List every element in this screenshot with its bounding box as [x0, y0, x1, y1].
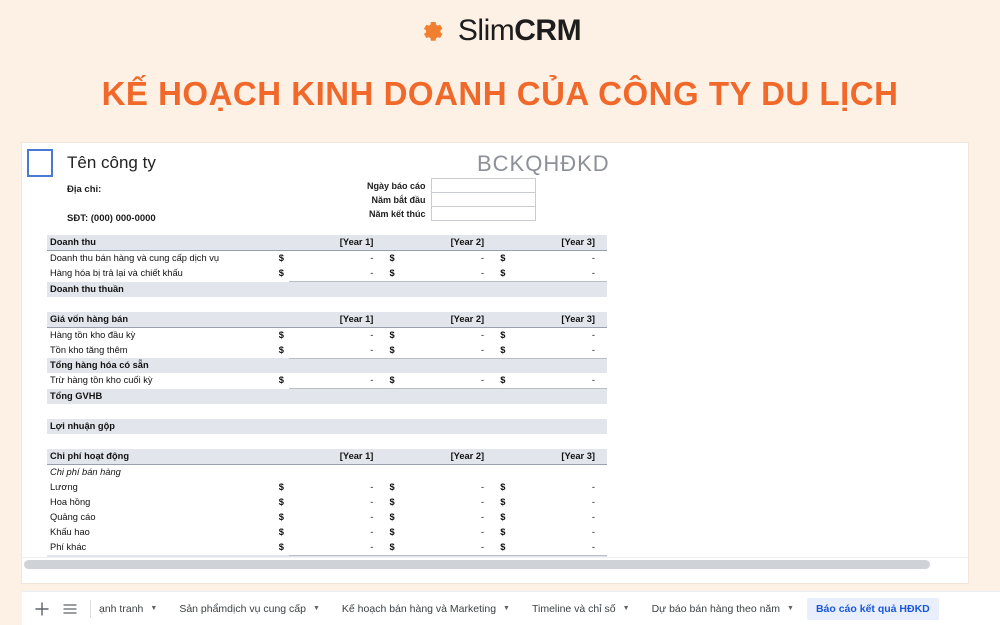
table-row[interactable]: Hàng tồn kho đầu kỳ $ - $ - $ - — [47, 327, 607, 343]
row-label: Quảng cáo — [47, 510, 279, 525]
row-label: Hàng hóa bị trả lại và chiết khấu — [47, 266, 279, 282]
value-year-2[interactable]: - — [400, 540, 497, 556]
value-year-1[interactable]: - — [289, 373, 386, 389]
company-phone[interactable]: SĐT: (000) 000-0000 — [67, 213, 156, 224]
add-sheet-button[interactable] — [28, 595, 56, 623]
row-label: Phí khác — [47, 540, 279, 556]
currency-symbol: $ — [500, 525, 510, 540]
value-year-3[interactable]: - — [510, 480, 607, 495]
total-values — [279, 282, 607, 297]
chevron-down-icon[interactable]: ▼ — [623, 605, 630, 612]
value-year-3[interactable]: - — [510, 251, 607, 267]
income-statement-table[interactable]: Doanh thu [Year 1] [Year 2] [Year 3] Doa… — [47, 235, 607, 570]
table-row[interactable]: Quảng cáo $ - $ - $ - — [47, 510, 607, 525]
value-year-1[interactable]: - — [289, 480, 386, 495]
currency-symbol: $ — [389, 480, 399, 495]
table-row[interactable]: Hoa hồng $ - $ - $ - — [47, 495, 607, 510]
currency-symbol: $ — [279, 510, 289, 525]
currency-symbol: $ — [500, 540, 510, 556]
hamburger-menu-icon[interactable] — [56, 595, 84, 623]
section-title: Chi phí hoạt động — [47, 449, 279, 465]
row-label: Tồn kho tăng thêm — [47, 343, 279, 359]
row-label: Lương — [47, 480, 279, 495]
currency-symbol: $ — [389, 495, 399, 510]
table-row[interactable]: Khấu hao $ - $ - $ - — [47, 525, 607, 540]
row-label: Doanh thu thuần — [47, 282, 279, 297]
row-label: Tổng GVHB — [47, 389, 279, 404]
chevron-down-icon[interactable]: ▼ — [787, 605, 794, 612]
section-title: Giá vốn hàng bán — [47, 312, 279, 328]
tab-label: ạnh tranh — [99, 603, 143, 615]
currency-symbol: $ — [500, 266, 510, 282]
value-year-1[interactable]: - — [289, 525, 386, 540]
brand-header: SlimCRM — [0, 0, 1000, 62]
year-header-2: [Year 2] — [385, 449, 496, 465]
value-year-3[interactable]: - — [510, 373, 607, 389]
tab-label: Timeline và chỉ số — [532, 603, 616, 615]
currency-symbol: $ — [500, 480, 510, 495]
value-year-1[interactable]: - — [289, 495, 386, 510]
value-year-1[interactable]: - — [289, 266, 386, 282]
year-header-2: [Year 2] — [385, 312, 496, 328]
section-title: Doanh thu — [47, 235, 279, 251]
year-header-3: [Year 3] — [496, 235, 607, 251]
spacer-row — [47, 434, 607, 449]
currency-symbol: $ — [389, 510, 399, 525]
company-address[interactable]: Địa chỉ: — [67, 184, 101, 195]
currency-symbol: $ — [279, 480, 289, 495]
value-year-3[interactable]: - — [510, 525, 607, 540]
sheet-tab-du-bao-ban-hang[interactable]: Dự báo bán hàng theo năm ▼ — [643, 598, 803, 620]
value-year-2[interactable]: - — [400, 480, 497, 495]
currency-symbol: $ — [279, 343, 289, 359]
table-row[interactable]: Tồn kho tăng thêm $ - $ - $ - — [47, 343, 607, 359]
table-row: Năm bắt đầu — [367, 193, 535, 207]
value-year-2[interactable]: - — [400, 251, 497, 267]
document-code: BCKQHĐKD — [477, 151, 610, 177]
tab-label: Sản phẩmdịch vụ cung cấp — [179, 603, 306, 615]
value-year-1[interactable]: - — [289, 343, 386, 359]
sheet-tab-ke-hoach-ban-hang[interactable]: Kế hoạch bán hàng và Marketing ▼ — [333, 598, 519, 620]
subtotal-row-goods-available: Tổng hàng hóa có sẵn — [47, 358, 607, 373]
currency-symbol: $ — [279, 327, 289, 343]
sheet-tab-san-pham-dich-vu[interactable]: Sản phẩmdịch vụ cung cấp ▼ — [170, 598, 329, 620]
year-header-1: [Year 1] — [279, 449, 386, 465]
sheet-tab-bao-cao-ket-qua-hdkd[interactable]: Báo cáo kết quả HĐKD — [807, 598, 939, 620]
total-row-cogs: Tổng GVHB — [47, 389, 607, 404]
page-title: KẾ HOẠCH KINH DOANH CỦA CÔNG TY DU LỊCH — [0, 62, 1000, 132]
currency-symbol: $ — [389, 251, 399, 267]
meta-label-start-year: Năm bắt đầu — [367, 193, 431, 207]
company-header-block: Tên công ty BCKQHĐKD Địa chỉ: SĐT: (000)… — [22, 143, 968, 235]
currency-symbol: $ — [500, 343, 510, 359]
meta-input-report-date[interactable] — [431, 179, 535, 193]
spreadsheet-canvas[interactable]: Tên công ty BCKQHĐKD Địa chỉ: SĐT: (000)… — [22, 143, 968, 583]
currency-symbol: $ — [389, 525, 399, 540]
table-row: Ngày báo cáo — [367, 179, 535, 193]
currency-symbol: $ — [279, 495, 289, 510]
section-header-revenue: Doanh thu [Year 1] [Year 2] [Year 3] — [47, 235, 607, 251]
currency-symbol: $ — [279, 525, 289, 540]
currency-symbol: $ — [279, 540, 289, 556]
row-label: Hoa hồng — [47, 495, 279, 510]
table-row: Năm kết thúc — [367, 207, 535, 221]
year-header-1: [Year 1] — [279, 235, 386, 251]
value-year-3[interactable]: - — [510, 327, 607, 343]
value-year-3[interactable]: - — [510, 266, 607, 282]
meta-label-end-year: Năm kết thúc — [367, 207, 431, 221]
meta-label-report-date: Ngày báo cáo — [367, 179, 431, 193]
chevron-down-icon[interactable]: ▼ — [313, 605, 320, 612]
section-header-cogs: Giá vốn hàng bán [Year 1] [Year 2] [Year… — [47, 312, 607, 328]
value-year-1[interactable]: - — [289, 327, 386, 343]
year-header-2: [Year 2] — [385, 235, 496, 251]
gap — [279, 464, 607, 480]
meta-input-start-year[interactable] — [431, 193, 535, 207]
total-values — [279, 419, 607, 434]
currency-symbol: $ — [389, 373, 399, 389]
row-label: Hàng tồn kho đầu kỳ — [47, 327, 279, 343]
row-label: Lợi nhuận gộp — [47, 419, 279, 434]
row-label: Doanh thu bán hàng và cung cấp dịch vụ — [47, 251, 279, 267]
tab-label: Kế hoạch bán hàng và Marketing — [342, 603, 496, 615]
year-header-3: [Year 3] — [496, 449, 607, 465]
company-name-cell[interactable]: Tên công ty — [67, 153, 156, 173]
total-values — [279, 389, 607, 404]
row-label: Tổng hàng hóa có sẵn — [47, 358, 279, 373]
currency-symbol: $ — [389, 327, 399, 343]
currency-symbol: $ — [500, 251, 510, 267]
sheet-tab-bar[interactable]: ạnh tranh ▼ Sản phẩmdịch vụ cung cấp ▼ K… — [22, 591, 1000, 625]
currency-symbol: $ — [389, 343, 399, 359]
value-year-2[interactable]: - — [400, 373, 497, 389]
spacer-row — [47, 297, 607, 312]
sheet-tab-canh-tranh[interactable]: ạnh tranh ▼ — [97, 598, 166, 620]
value-year-2[interactable]: - — [400, 510, 497, 525]
sheet-tab-timeline[interactable]: Timeline và chỉ số ▼ — [523, 598, 639, 620]
brand-name-bold: CRM — [514, 14, 581, 47]
value-year-3[interactable]: - — [510, 495, 607, 510]
currency-symbol: $ — [500, 495, 510, 510]
scrollbar-thumb[interactable] — [24, 560, 930, 569]
value-year-2[interactable]: - — [400, 327, 497, 343]
row-label: Trừ hàng tồn kho cuối kỳ — [47, 373, 279, 389]
year-header-1: [Year 1] — [279, 312, 386, 328]
total-row-gross-profit: Lợi nhuận gộp — [47, 419, 607, 434]
table-row[interactable]: Lương $ - $ - $ - — [47, 480, 607, 495]
table-row[interactable]: Phí khác $ - $ - $ - — [47, 540, 607, 556]
value-year-1[interactable]: - — [289, 510, 386, 525]
tab-label: Báo cáo kết quả HĐKD — [816, 603, 930, 615]
row-label: Chi phí bán hàng — [47, 464, 279, 480]
horizontal-scrollbar[interactable] — [22, 557, 968, 570]
currency-symbol: $ — [500, 327, 510, 343]
table-row[interactable]: Trừ hàng tồn kho cuối kỳ $ - $ - $ - — [47, 373, 607, 389]
row-label: Khấu hao — [47, 525, 279, 540]
value-year-2[interactable]: - — [400, 343, 497, 359]
currency-symbol: $ — [279, 266, 289, 282]
year-header-3: [Year 3] — [496, 312, 607, 328]
currency-symbol: $ — [389, 266, 399, 282]
total-values — [279, 358, 607, 373]
currency-symbol: $ — [279, 251, 289, 267]
tab-label: Dự báo bán hàng theo năm — [652, 603, 780, 615]
currency-symbol: $ — [500, 510, 510, 525]
value-year-3[interactable]: - — [510, 343, 607, 359]
currency-symbol: $ — [279, 373, 289, 389]
value-year-2[interactable]: - — [400, 266, 497, 282]
subsection-header-selling-expenses: Chi phí bán hàng — [47, 464, 607, 480]
total-row-net-revenue: Doanh thu thuần — [47, 282, 607, 297]
value-year-2[interactable]: - — [400, 525, 497, 540]
value-year-3[interactable]: - — [510, 510, 607, 525]
divider — [90, 600, 91, 618]
gear-icon — [419, 16, 449, 46]
currency-symbol: $ — [389, 540, 399, 556]
table-row[interactable]: Doanh thu bán hàng và cung cấp dịch vụ $… — [47, 251, 607, 267]
section-header-opex: Chi phí hoạt động [Year 1] [Year 2] [Yea… — [47, 449, 607, 465]
value-year-3[interactable]: - — [510, 540, 607, 556]
value-year-2[interactable]: - — [400, 495, 497, 510]
chevron-down-icon[interactable]: ▼ — [150, 605, 157, 612]
value-year-1[interactable]: - — [289, 540, 386, 556]
value-year-1[interactable]: - — [289, 251, 386, 267]
chevron-down-icon[interactable]: ▼ — [503, 605, 510, 612]
brand-name-light: Slim — [458, 14, 514, 47]
spacer-row — [47, 404, 607, 419]
brand-wordmark: SlimCRM — [458, 16, 581, 46]
meta-input-end-year[interactable] — [431, 207, 535, 221]
currency-symbol: $ — [500, 373, 510, 389]
table-row[interactable]: Hàng hóa bị trả lại và chiết khấu $ - $ … — [47, 266, 607, 282]
report-meta-table: Ngày báo cáo Năm bắt đầu Năm kết thúc — [367, 178, 536, 221]
